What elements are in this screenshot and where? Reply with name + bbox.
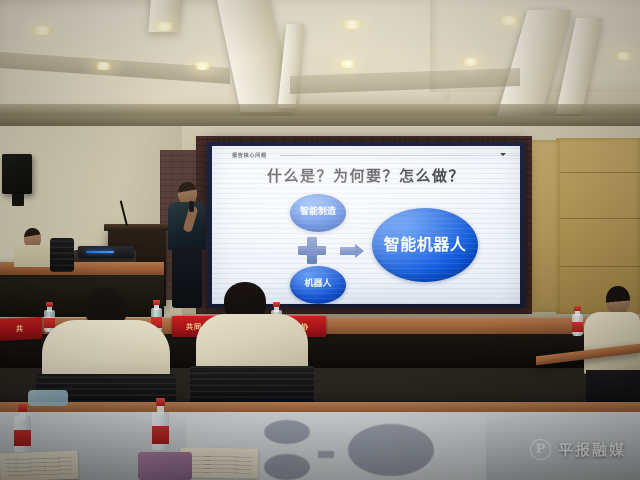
bottle-cap: [46, 302, 52, 307]
slide-header-rule: [280, 155, 520, 156]
chevron-down-icon: [500, 153, 506, 156]
personal-item: [138, 452, 192, 480]
bottle-label: [44, 318, 55, 328]
panelist-chair: [50, 238, 74, 272]
reflection-node-result: [348, 424, 434, 476]
diagram-node-robot: 机器人: [290, 266, 346, 304]
downlight-1: [30, 26, 54, 35]
paper-ruled-lines: [6, 456, 72, 476]
bottle-neck: [19, 411, 26, 420]
downlight-3: [340, 20, 364, 29]
bottle-neck: [47, 306, 52, 311]
bottle-neck: [274, 306, 279, 311]
bottle-cap: [574, 306, 580, 311]
bottle-label: [14, 430, 31, 446]
chair-slats: [50, 238, 74, 272]
paper-document-1: [0, 451, 78, 480]
slide-header-label: 报告核心问题: [232, 152, 267, 159]
bottle-neck: [575, 310, 580, 315]
reflection-arrow: [318, 451, 334, 458]
downlight-8: [460, 58, 481, 66]
water-bottle-5: [14, 404, 31, 452]
panel-seam-3: [556, 266, 640, 267]
wall-wood-panel-right: [556, 138, 640, 314]
bottle-label: [572, 322, 583, 332]
diagram-node-intelligent-robot: 智能机器人: [372, 208, 478, 282]
presenter-legs: [172, 246, 202, 308]
slide-title: 什么是？为何要？怎么做？: [212, 165, 520, 186]
slide-reflection: [0, 412, 640, 480]
water-bottle-6: [152, 398, 169, 450]
bottle-neck: [154, 304, 159, 310]
av-device-led-icon: [86, 251, 114, 253]
arrow-right-icon-head: [355, 244, 364, 258]
wall-speaker-icon: [2, 154, 32, 194]
panelist-torso: [14, 245, 52, 267]
downlight-5: [93, 62, 114, 70]
attendee-3-head: [606, 286, 630, 314]
wall-speaker-bracket: [12, 194, 24, 206]
panel-seam-1: [556, 172, 640, 173]
face-mask-item: [28, 390, 68, 406]
bottle-neck: [157, 405, 164, 414]
reflection-node-a: [264, 454, 310, 480]
arrow-right-icon-body: [340, 247, 356, 255]
water-bottle-4: [572, 306, 583, 336]
bottle-cap: [156, 398, 166, 406]
presenter-head: [178, 182, 197, 204]
nameplate-1: 共: [0, 317, 42, 341]
panel-table-skirt: [0, 275, 164, 317]
panel-seam-2: [556, 218, 640, 219]
plus-icon-vertical: [307, 237, 317, 264]
downlight-7: [337, 60, 358, 68]
bottle-cap: [153, 300, 159, 305]
photo-scene: 报告核心问题 什么是？为何要？怎么做？ 智能制造 机器人 智能机器人: [0, 0, 640, 480]
projection-screen: 报告核心问题 什么是？为何要？怎么做？ 智能制造 机器人 智能机器人: [212, 146, 520, 304]
bottle-cap: [18, 404, 28, 412]
attendee-3-torso: [584, 312, 640, 374]
downlight-2: [152, 22, 176, 31]
handheld-microphone-icon: [189, 201, 194, 212]
paper-ruled-lines: [186, 453, 252, 473]
ceiling: [0, 0, 640, 132]
downlight-6: [192, 62, 213, 70]
bottle-label: [152, 426, 169, 444]
downlight-4: [497, 16, 521, 25]
reflection-node-b: [264, 420, 310, 444]
foreground-table-surface: [0, 412, 640, 480]
ceiling-cornice: [0, 104, 640, 116]
podium-top-surface: [104, 224, 172, 231]
diagram-node-intelligent-manufacturing: 智能制造: [290, 194, 346, 232]
downlight-9: [613, 52, 634, 60]
bottle-cap: [273, 302, 279, 307]
